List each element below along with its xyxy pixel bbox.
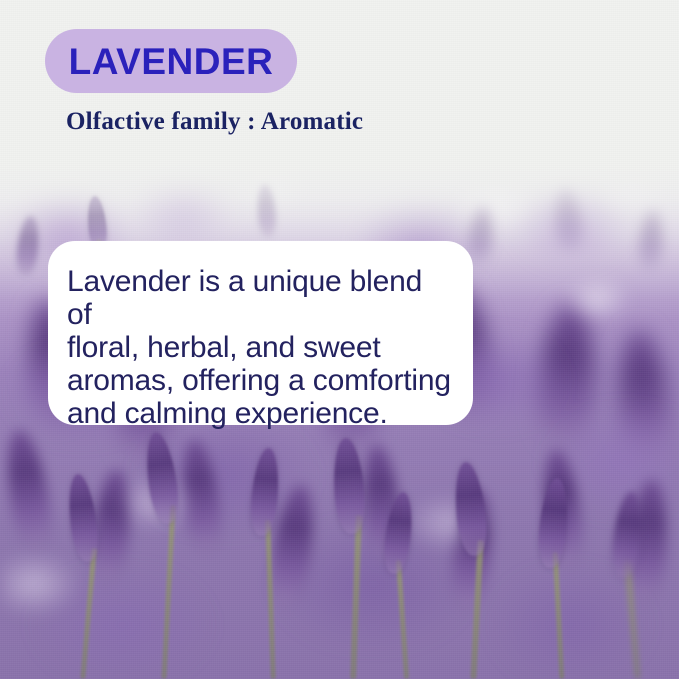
lavender-card-canvas: LAVENDER Olfactive family : Aromatic Lav…	[0, 0, 679, 679]
olfactive-family-subtitle: Olfactive family : Aromatic	[66, 108, 363, 136]
description-text: Lavender is a unique blend of floral, he…	[67, 265, 451, 430]
title-badge: LAVENDER	[45, 29, 297, 93]
description-card: Lavender is a unique blend of floral, he…	[48, 241, 473, 425]
page-title: LAVENDER	[69, 43, 274, 80]
